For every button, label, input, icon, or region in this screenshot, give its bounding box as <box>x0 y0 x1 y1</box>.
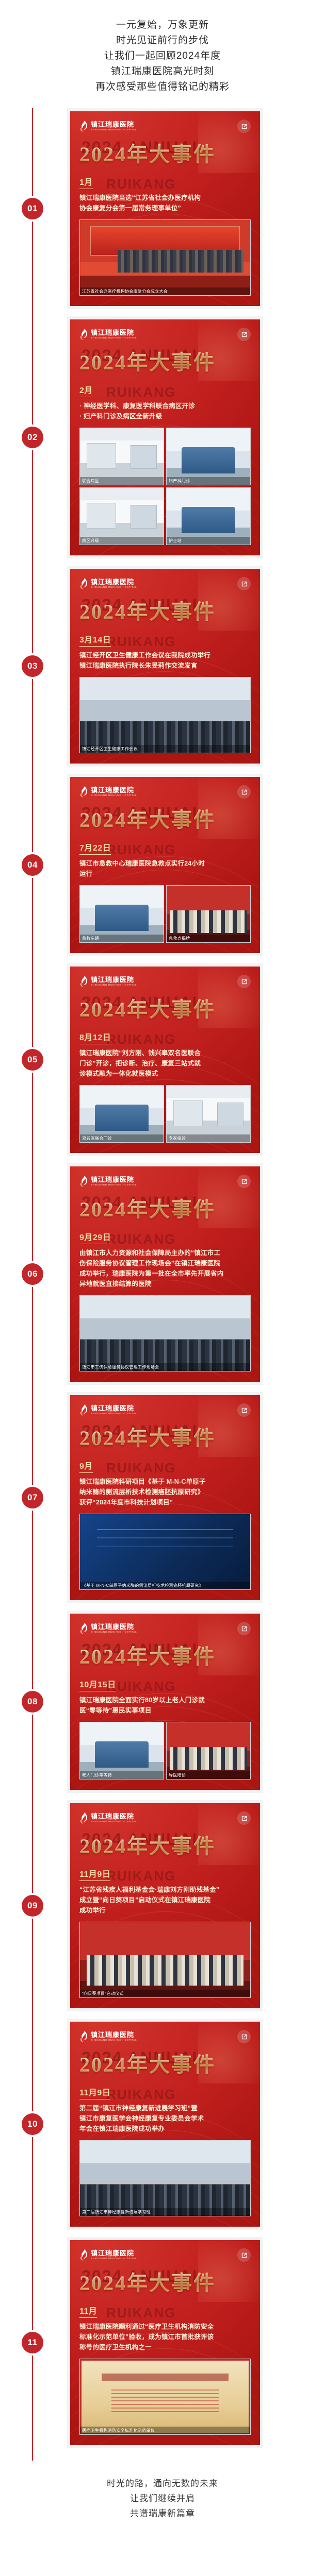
event-description-line: 镇江瑞康医院执行院长朱旻莉作交流发言 <box>79 660 251 671</box>
timeline-node-08[interactable]: 08 <box>22 1691 43 1713</box>
flame-logo-icon <box>79 121 88 132</box>
fund-launch-ceremony-photo[interactable]: “向日葵项目”启动仪式 <box>79 1922 251 1998</box>
award-ceremony-photo[interactable]: 江苏省社会办医疗机构协会康复分会成立大会 <box>79 219 251 296</box>
doctor-patient-photo[interactable]: 专家接诊 <box>166 1085 251 1143</box>
timeline-item[interactable]: 05镇江瑞康医院ZHENJIANG RUIKANG HOSPITAL2024 A… <box>0 963 325 1156</box>
poster-card[interactable]: 镇江瑞康医院ZHENJIANG RUIKANG HOSPITAL2024 ANN… <box>67 1611 263 1793</box>
timeline-node-07[interactable]: 07 <box>22 1487 43 1509</box>
timeline-item[interactable]: 06镇江瑞康医院ZHENJIANG RUIKANG HOSPITAL2024 A… <box>0 1163 325 1385</box>
poster-headline-area: 2024 ANNUAL2024年大事件 <box>79 349 251 376</box>
share-arrow-icon[interactable] <box>237 120 251 133</box>
hospital-logo: 镇江瑞康医院ZHENJIANG RUIKANG HOSPITAL <box>79 1176 139 1187</box>
photo-caption: 医疗卫生机构消防安全标准化示范单位 <box>80 2427 250 2434</box>
event-description-line: 由镇江市人力资源和社会保障局主办的“镇江市工 <box>79 1248 251 1258</box>
event-photo-gallery: “向日葵项目”启动仪式 <box>79 1922 251 1998</box>
ambulance-photo[interactable]: 急救车辆 <box>79 885 164 943</box>
event-month-label: 10月15日 <box>79 1677 116 1691</box>
logo-name-cn: 镇江瑞康医院 <box>91 787 139 793</box>
event-description-line: 诊模式融为一体化就医模式 <box>79 1069 251 1079</box>
ghost-ruikang-watermark: RUIKANG <box>106 1231 176 1247</box>
timeline-node-04[interactable]: 04 <box>22 854 43 876</box>
poster-body: 镇江瑞康医院ZHENJIANG RUIKANG HOSPITAL2024 ANN… <box>70 319 260 555</box>
event-description: 镇江瑞康医院“刘方刚、钱兴皋双名医联合门诊”开诊，把诊断、治疗、康复三站式就诊模… <box>79 1048 251 1079</box>
photo-scene <box>80 1514 250 1589</box>
photo-caption: 第二届镇江市神经康复新进展学习班 <box>80 2208 250 2216</box>
academic-conference-photo[interactable]: 第二届镇江市神经康复新进展学习班 <box>79 2140 251 2216</box>
event-month-label: 3月14日 <box>79 633 111 647</box>
onsite-meeting-photo[interactable]: 镇江市工伤保险服务协议管理工作现场会 <box>79 1295 251 1371</box>
photo-caption: 急救点揭牌 <box>167 935 250 942</box>
timeline-node-06[interactable]: 06 <box>22 1263 43 1285</box>
flame-logo-icon <box>79 1623 88 1634</box>
footer-line: 时光的路，通向无数的未来 <box>0 2476 325 2491</box>
timeline-item[interactable]: 03镇江瑞康医院ZHENJIANG RUIKANG HOSPITAL2024 A… <box>0 566 325 767</box>
event-description-line: “江苏省残疾人福利基金会·瑞康刘方刚助残基金” <box>79 1885 251 1895</box>
event-description: 镇江瑞康医院科研项目《基于 M-N-C单原子纳米酶的侧流层析技术检测癌胚抗原研究… <box>79 1477 251 1507</box>
photo-caption: 镇江经开区卫生健康工作会议 <box>80 745 250 753</box>
share-arrow-icon[interactable] <box>237 328 251 341</box>
event-description-line: 镇江经开区卫生健康工作会议在我院成功举行 <box>79 650 251 660</box>
logo-name-en: ZHENJIANG RUIKANG HOSPITAL <box>91 2039 137 2042</box>
ghost-ruikang-watermark: RUIKANG <box>106 634 176 650</box>
footer-block: 时光的路，通向无数的未来 让我们继续并肩 共谱瑞康新篇章 <box>0 2461 325 2541</box>
event-photo-gallery: 医疗卫生机构消防安全标准化示范单位 <box>79 2359 251 2435</box>
event-description-line: 镇江瑞康医院顺利通过“医疗卫生机构消防安全 <box>79 2321 251 2332</box>
hospital-logo: 镇江瑞康医院ZHENJIANG RUIKANG HOSPITAL <box>79 786 139 798</box>
logo-name-en: ZHENJIANG RUIKANG HOSPITAL <box>91 984 137 987</box>
timeline-node-11[interactable]: 11 <box>22 2332 43 2353</box>
ghost-ruikang-watermark: RUIKANG <box>106 1679 176 1694</box>
hospital-logo: 镇江瑞康医院ZHENJIANG RUIKANG HOSPITAL <box>79 329 139 340</box>
poster-headline: 2024年大事件 <box>79 807 251 834</box>
flame-logo-icon <box>79 976 88 987</box>
photo-scene <box>80 1086 164 1142</box>
poster-body: 镇江瑞康医院ZHENJIANG RUIKANG HOSPITAL2024 ANN… <box>70 111 260 306</box>
hospital-logo: 镇江瑞康医院ZHENJIANG RUIKANG HOSPITAL <box>79 976 139 987</box>
poster-card[interactable]: 镇江瑞康医院ZHENJIANG RUIKANG HOSPITAL2024 ANN… <box>67 1800 263 2011</box>
photo-caption: 急救车辆 <box>80 935 164 942</box>
timeline-item[interactable]: 10镇江瑞康医院ZHENJIANG RUIKANG HOSPITAL2024 A… <box>0 2019 325 2230</box>
poster-body: 镇江瑞康医院ZHENJIANG RUIKANG HOSPITAL2024 ANN… <box>70 2240 260 2445</box>
event-description-line: 镇江市急救中心瑞康医院急救点实行24小时 <box>79 858 251 869</box>
intro-block: 一元复始，万象更新 时光见证前行的步伐 让我们一起回顾2024年度 镇江瑞康医院… <box>0 0 325 108</box>
flame-logo-icon <box>79 1176 88 1187</box>
flame-logo-icon <box>79 786 88 798</box>
logo-name-en: ZHENJIANG RUIKANG HOSPITAL <box>91 586 137 589</box>
event-description-line: 镇江瑞康医院全面实行80岁以上老人门诊就 <box>79 1695 251 1705</box>
photo-scene <box>80 886 164 942</box>
ghost-ruikang-watermark: RUIKANG <box>106 2305 176 2321</box>
event-description: 镇江瑞康医院顺利通过“医疗卫生机构消防安全标准化示范单位”验收，成为镇江市首批获… <box>79 2321 251 2352</box>
poster-header: 镇江瑞康医院ZHENJIANG RUIKANG HOSPITAL <box>79 328 251 341</box>
poster-card[interactable]: 镇江瑞康医院ZHENJIANG RUIKANG HOSPITAL2024 ANN… <box>67 1163 263 1385</box>
photo-scene <box>80 677 250 753</box>
share-arrow-icon[interactable] <box>237 1622 251 1635</box>
event-description-line: 异地就医直接结算的医院 <box>79 1279 251 1289</box>
event-description: · 神经医学科、康复医学科联合病区开诊· 妇产科门诊及病区全新升级 <box>79 401 251 421</box>
ghost-ruikang-watermark: RUIKANG <box>106 1868 176 1884</box>
event-description-line: 镇江瑞康医院科研项目《基于 M-N-C单原子 <box>79 1477 251 1487</box>
poster-card[interactable]: 镇江瑞康医院ZHENJIANG RUIKANG HOSPITAL2024 ANN… <box>67 2237 263 2448</box>
photo-caption: 江苏省社会办医疗机构协会康复分会成立大会 <box>80 287 250 295</box>
poster-headline-area: 2024 ANNUAL2024年大事件 <box>79 2052 251 2078</box>
timeline-item[interactable]: 02镇江瑞康医院ZHENJIANG RUIKANG HOSPITAL2024 A… <box>0 316 325 558</box>
photo-caption: “向日葵项目”启动仪式 <box>80 1990 250 1997</box>
event-photo-gallery: 急救车辆急救点揭牌 <box>79 885 251 943</box>
poster-content: RUIKANG7月22日镇江市急救中心瑞康医院急救点实行24小时运行 <box>79 841 251 879</box>
poster-content: RUIKANG2月· 神经医学科、康复医学科联合病区开诊· 妇产科门诊及病区全新… <box>79 383 251 421</box>
photo-scene <box>167 886 250 942</box>
share-arrow-icon[interactable] <box>237 1811 251 1825</box>
logo-name-en: ZHENJIANG RUIKANG HOSPITAL <box>91 129 137 131</box>
intro-line: 一元复始，万象更新 <box>0 18 325 33</box>
poster-headline-area: 2024 ANNUAL2024年大事件 <box>79 807 251 834</box>
poster-headline: 2024年大事件 <box>79 996 251 1023</box>
poster-header: 镇江瑞康医院ZHENJIANG RUIKANG HOSPITAL <box>79 785 251 799</box>
hospital-logo: 镇江瑞康医院ZHENJIANG RUIKANG HOSPITAL <box>79 121 139 132</box>
event-photo-gallery: 镇江市工伤保险服务协议管理工作现场会 <box>79 1295 251 1371</box>
photo-caption: 导医陪诊 <box>167 1771 250 1779</box>
event-description-line: 成功举行，瑞康医院为第一批在全市率先开展省内 <box>79 1268 251 1279</box>
poster-card[interactable]: 镇江瑞康医院ZHENJIANG RUIKANG HOSPITAL2024 ANN… <box>67 316 263 558</box>
poster-headline-area: 2024 ANNUAL2024年大事件 <box>79 1643 251 1670</box>
photo-scene <box>167 488 250 545</box>
flame-logo-icon <box>79 2249 88 2261</box>
intro-line: 时光见证前行的步伐 <box>0 33 325 48</box>
photo-scene <box>80 2141 250 2216</box>
event-description-line: 年会在镇江瑞康医院成功举办 <box>79 2124 251 2134</box>
poster-headline-area: 2024 ANNUAL2024年大事件 <box>79 996 251 1023</box>
photo-scene <box>80 1722 164 1779</box>
ward-bed-photo[interactable]: 病区升级 <box>79 487 164 545</box>
timeline-node-05[interactable]: 05 <box>22 1049 43 1071</box>
poster-card[interactable]: 镇江瑞康医院ZHENJIANG RUIKANG HOSPITAL2024 ANN… <box>67 566 263 767</box>
event-description-line: · 神经医学科、康复医学科联合病区开诊 <box>79 401 251 411</box>
poster-content: RUIKANG11月9日“江苏省残疾人福利基金会·瑞康刘方刚助残基金”成立暨“向… <box>79 1867 251 1916</box>
photo-caption: 护士站 <box>167 537 250 545</box>
poster-header: 镇江瑞康医院ZHENJIANG RUIKANG HOSPITAL <box>79 577 251 590</box>
event-description-line: 协会康复分会第一届常务理事单位” <box>79 203 251 213</box>
research-project-banner-photo[interactable]: 《基于 M-N-C单原子纳米酶的侧流层析技术检测癌胚抗原研究》 <box>79 1514 251 1590</box>
clinic-room-photo[interactable]: 妇产科门诊 <box>166 428 251 485</box>
ghost-ruikang-watermark: RUIKANG <box>106 384 176 400</box>
logo-name-cn: 镇江瑞康医院 <box>91 976 139 983</box>
poster-header: 镇江瑞康医院ZHENJIANG RUIKANG HOSPITAL <box>79 2248 251 2262</box>
joint-clinic-consult-photo[interactable]: 双名医联合门诊 <box>79 1085 164 1143</box>
timeline-item[interactable]: 08镇江瑞康医院ZHENJIANG RUIKANG HOSPITAL2024 A… <box>0 1611 325 1793</box>
poster-headline-area: 2024 ANNUAL2024年大事件 <box>79 2270 251 2297</box>
hospital-logo: 镇江瑞康医院ZHENJIANG RUIKANG HOSPITAL <box>79 578 139 589</box>
poster-body: 镇江瑞康医院ZHENJIANG RUIKANG HOSPITAL2024 ANN… <box>70 569 260 764</box>
event-photo-gallery: 《基于 M-N-C单原子纳米酶的侧流层析技术检测癌胚抗原研究》 <box>79 1514 251 1590</box>
event-description-line: 成功举行 <box>79 1905 251 1916</box>
event-photo-gallery: 第二届镇江市神经康复新进展学习班 <box>79 2140 251 2216</box>
timeline-item[interactable]: 09镇江瑞康医院ZHENJIANG RUIKANG HOSPITAL2024 A… <box>0 1800 325 2011</box>
poster-headline: 2024年大事件 <box>79 1425 251 1452</box>
event-description-line: 镇江瑞康医院“刘方刚、钱兴皋双名医联合 <box>79 1048 251 1058</box>
timeline-item[interactable]: 07镇江瑞康医院ZHENJIANG RUIKANG HOSPITAL2024 A… <box>0 1392 325 1603</box>
photo-scene <box>80 1296 250 1371</box>
logo-name-cn: 镇江瑞康医院 <box>91 1176 139 1183</box>
photo-caption: 双名医联合门诊 <box>80 1134 164 1142</box>
timeline-node-02[interactable]: 02 <box>22 427 43 448</box>
event-description: 第二届“镇江市神经康复新进展学习班”暨镇江市康复医学会神经康复专业委员会学术年会… <box>79 2103 251 2134</box>
poster-header: 镇江瑞康医院ZHENJIANG RUIKANG HOSPITAL <box>79 1175 251 1188</box>
share-arrow-icon[interactable] <box>237 975 251 988</box>
poster-headline-area: 2024 ANNUAL2024年大事件 <box>79 599 251 625</box>
event-description: “江苏省残疾人福利基金会·瑞康刘方刚助残基金”成立暨“向日葵项目”启动仪式在镇江… <box>79 1885 251 1916</box>
timeline: 01镇江瑞康医院ZHENJIANG RUIKANG HOSPITAL2024 A… <box>0 108 325 2461</box>
event-photo-gallery: 镇江经开区卫生健康工作会议 <box>79 677 251 753</box>
flame-logo-icon <box>79 1812 88 1824</box>
photo-scene <box>80 1922 250 1997</box>
timeline-item[interactable]: 01镇江瑞康医院ZHENJIANG RUIKANG HOSPITAL2024 A… <box>0 108 325 309</box>
timeline-node-10[interactable]: 10 <box>22 2113 43 2135</box>
event-description: 镇江市急救中心瑞康医院急救点实行24小时运行 <box>79 858 251 879</box>
event-description-line: 镇江瑞康医院当选“江苏省社会办医疗机构 <box>79 193 251 203</box>
hospital-logo: 镇江瑞康医院ZHENJIANG RUIKANG HOSPITAL <box>79 1404 139 1416</box>
poster-card[interactable]: 镇江瑞康医院ZHENJIANG RUIKANG HOSPITAL2024 ANN… <box>67 108 263 309</box>
logo-name-en: ZHENJIANG RUIKANG HOSPITAL <box>91 2258 137 2260</box>
poster-headline: 2024年大事件 <box>79 141 251 168</box>
logo-name-en: ZHENJIANG RUIKANG HOSPITAL <box>91 794 137 797</box>
event-month-label: 11月9日 <box>79 2086 110 2099</box>
logo-name-cn: 镇江瑞康医院 <box>91 579 139 585</box>
timeline-node-09[interactable]: 09 <box>22 1895 43 1917</box>
event-description-line: 标准化示范单位”验收，成为镇江市首批获评该 <box>79 2332 251 2342</box>
poster-card[interactable]: 镇江瑞康医院ZHENJIANG RUIKANG HOSPITAL2024 ANN… <box>67 2019 263 2230</box>
event-description: 镇江瑞康医院全面实行80岁以上老人门诊就医“零等待"惠民实事项目 <box>79 1695 251 1716</box>
poster-body: 镇江瑞康医院ZHENJIANG RUIKANG HOSPITAL2024 ANN… <box>70 1614 260 1790</box>
ghost-ruikang-watermark: RUIKANG <box>106 842 176 858</box>
poster-headline: 2024年大事件 <box>79 2270 251 2297</box>
logo-name-en: ZHENJIANG RUIKANG HOSPITAL <box>91 1821 137 1823</box>
poster-content: RUIKANG9月29日由镇江市人力资源和社会保障局主办的“镇江市工伤保险服务协… <box>79 1230 251 1289</box>
fire-safety-certificate-photo[interactable]: 医疗卫生机构消防安全标准化示范单位 <box>79 2359 251 2435</box>
intro-line: 镇江瑞康医院高光时刻 <box>0 64 325 79</box>
event-description-line: 镇江市康复医学会神经康复专业委员会学术 <box>79 2113 251 2124</box>
poster-content: RUIKANG8月12日镇江瑞康医院“刘方刚、钱兴皋双名医联合门诊”开诊，把诊断… <box>79 1030 251 1079</box>
elderly-service-photo[interactable]: 老人门诊零等待 <box>79 1722 164 1780</box>
poster-body: 镇江瑞康医院ZHENJIANG RUIKANG HOSPITAL2024 ANN… <box>70 777 260 953</box>
hospital-logo: 镇江瑞康医院ZHENJIANG RUIKANG HOSPITAL <box>79 2249 139 2261</box>
event-month-label: 1月 <box>79 175 93 189</box>
photo-scene <box>167 428 250 485</box>
ghost-ruikang-watermark: RUIKANG <box>106 176 176 192</box>
flame-logo-icon <box>79 2031 88 2042</box>
event-description-line: 称号的医疗卫生机构之一 <box>79 2342 251 2352</box>
poster-content: RUIKANG3月14日镇江经开区卫生健康工作会议在我院成功举行镇江瑞康医院执行… <box>79 633 251 671</box>
event-month-label: 2月 <box>79 383 93 397</box>
photo-scene <box>167 1086 250 1142</box>
event-description-line: 第二届“镇江市神经康复新进展学习班”暨 <box>79 2103 251 2113</box>
event-description-line: 医“零等待"惠民实事项目 <box>79 1705 251 1716</box>
logo-name-cn: 镇江瑞康医院 <box>91 1623 139 1630</box>
event-description: 镇江瑞康医院当选“江苏省社会办医疗机构协会康复分会第一届常务理事单位” <box>79 193 251 213</box>
poster-content: RUIKANG9月镇江瑞康医院科研项目《基于 M-N-C单原子纳米酶的侧流层析技… <box>79 1459 251 1507</box>
poster-content: RUIKANG11月镇江瑞康医院顺利通过“医疗卫生机构消防安全标准化示范单位”验… <box>79 2304 251 2352</box>
ghost-ruikang-watermark: RUIKANG <box>106 2087 176 2103</box>
logo-name-cn: 镇江瑞康医院 <box>91 329 139 336</box>
event-photo-gallery: 江苏省社会办医疗机构协会康复分会成立大会 <box>79 219 251 296</box>
event-photo-gallery: 联合病区妇产科门诊病区升级护士站 <box>79 428 251 545</box>
nurse-station-photo[interactable]: 护士站 <box>166 487 251 545</box>
event-month-label: 9月 <box>79 1459 93 1473</box>
poster-header: 镇江瑞康医院ZHENJIANG RUIKANG HOSPITAL <box>79 2030 251 2043</box>
event-description: 由镇江市人力资源和社会保障局主办的“镇江市工伤保险服务协议管理工作现场会”在镇江… <box>79 1248 251 1289</box>
poster-header: 镇江瑞康医院ZHENJIANG RUIKANG HOSPITAL <box>79 120 251 133</box>
timeline-node-01[interactable]: 01 <box>22 198 43 219</box>
share-arrow-icon[interactable] <box>237 785 251 799</box>
intro-line: 让我们一起回顾2024年度 <box>0 48 325 64</box>
poster-headline-area: 2024 ANNUAL2024年大事件 <box>79 1196 251 1223</box>
poster-card[interactable]: 镇江瑞康医院ZHENJIANG RUIKANG HOSPITAL2024 ANN… <box>67 963 263 1156</box>
poster-headline: 2024年大事件 <box>79 1196 251 1223</box>
poster-content: RUIKANG11月9日第二届“镇江市神经康复新进展学习班”暨镇江市康复医学会神… <box>79 2086 251 2134</box>
logo-name-cn: 镇江瑞康医院 <box>91 121 139 128</box>
guide-service-photo[interactable]: 导医陪诊 <box>166 1722 251 1780</box>
event-description-line: 伤保险服务协议管理工作现场会”在镇江瑞康医院 <box>79 1258 251 1268</box>
poster-headline: 2024年大事件 <box>79 349 251 376</box>
ward-corridor-photo[interactable]: 联合病区 <box>79 428 164 485</box>
photo-scene <box>80 220 250 295</box>
share-arrow-icon[interactable] <box>237 2030 251 2043</box>
photo-caption: 病区升级 <box>80 537 164 545</box>
photo-scene <box>80 2359 250 2434</box>
logo-name-en: ZHENJIANG RUIKANG HOSPITAL <box>91 1184 137 1187</box>
timeline-item[interactable]: 04镇江瑞康医院ZHENJIANG RUIKANG HOSPITAL2024 A… <box>0 774 325 956</box>
footer-line: 让我们继续并肩 <box>0 2491 325 2506</box>
poster-content: RUIKANG10月15日镇江瑞康医院全面实行80岁以上老人门诊就医“零等待"惠… <box>79 1677 251 1716</box>
event-month-label: 7月22日 <box>79 841 111 855</box>
poster-card[interactable]: 镇江瑞康医院ZHENJIANG RUIKANG HOSPITAL2024 ANN… <box>67 1392 263 1603</box>
hospital-logo: 镇江瑞康医院ZHENJIANG RUIKANG HOSPITAL <box>79 1623 139 1634</box>
poster-headline: 2024年大事件 <box>79 2052 251 2078</box>
poster-body: 镇江瑞康医院ZHENJIANG RUIKANG HOSPITAL2024 ANN… <box>70 1166 260 1382</box>
poster-body: 镇江瑞康医院ZHENJIANG RUIKANG HOSPITAL2024 ANN… <box>70 1395 260 1600</box>
poster-card[interactable]: 镇江瑞康医院ZHENJIANG RUIKANG HOSPITAL2024 ANN… <box>67 774 263 956</box>
poster-header: 镇江瑞康医院ZHENJIANG RUIKANG HOSPITAL <box>79 975 251 988</box>
photo-caption: 专家接诊 <box>167 1134 250 1142</box>
poster-content: RUIKANG1月镇江瑞康医院当选“江苏省社会办医疗机构协会康复分会第一届常务理… <box>79 175 251 213</box>
poster-body: 镇江瑞康医院ZHENJIANG RUIKANG HOSPITAL2024 ANN… <box>70 1803 260 2008</box>
poster-header: 镇江瑞康医院ZHENJIANG RUIKANG HOSPITAL <box>79 1403 251 1417</box>
logo-name-cn: 镇江瑞康医院 <box>91 1405 139 1412</box>
poster-header: 镇江瑞康医院ZHENJIANG RUIKANG HOSPITAL <box>79 1622 251 1635</box>
logo-name-cn: 镇江瑞康医院 <box>91 2250 139 2257</box>
poster-headline: 2024年大事件 <box>79 599 251 625</box>
event-month-label: 8月12日 <box>79 1030 111 1044</box>
poster-body: 镇江瑞康医院ZHENJIANG RUIKANG HOSPITAL2024 ANN… <box>70 967 260 1153</box>
photo-scene <box>80 428 164 485</box>
share-arrow-icon[interactable] <box>237 577 251 590</box>
timeline-node-03[interactable]: 03 <box>22 655 43 677</box>
logo-name-cn: 镇江瑞康医院 <box>91 2031 139 2038</box>
ghost-ruikang-watermark: RUIKANG <box>106 1031 176 1047</box>
poster-body: 镇江瑞康医院ZHENJIANG RUIKANG HOSPITAL2024 ANN… <box>70 2022 260 2227</box>
share-arrow-icon[interactable] <box>237 1403 251 1417</box>
event-month-label: 9月29日 <box>79 1230 111 1244</box>
photo-scene <box>167 1722 250 1779</box>
hospital-logo: 镇江瑞康医院ZHENJIANG RUIKANG HOSPITAL <box>79 1812 139 1824</box>
event-photo-gallery: 双名医联合门诊专家接诊 <box>79 1085 251 1143</box>
event-description-line: 运行 <box>79 869 251 879</box>
poster-headline-area: 2024 ANNUAL2024年大事件 <box>79 1425 251 1452</box>
share-arrow-icon[interactable] <box>237 1175 251 1188</box>
photo-caption: 联合病区 <box>80 477 164 485</box>
logo-name-en: ZHENJIANG RUIKANG HOSPITAL <box>91 1631 137 1634</box>
event-description-line: 成立暨“向日葵项目”启动仪式在镇江瑞康医院 <box>79 1895 251 1905</box>
event-description-line: · 妇产科门诊及病区全新升级 <box>79 411 251 421</box>
event-description: 镇江经开区卫生健康工作会议在我院成功举行镇江瑞康医院执行院长朱旻莉作交流发言 <box>79 650 251 671</box>
event-month-label: 11月9日 <box>79 1867 110 1881</box>
photo-scene <box>80 488 164 545</box>
poster-headline-area: 2024 ANNUAL2024年大事件 <box>79 1833 251 1860</box>
emergency-team-photo[interactable]: 急救点揭牌 <box>166 885 251 943</box>
flame-logo-icon <box>79 578 88 589</box>
flame-logo-icon <box>79 1404 88 1416</box>
flame-logo-icon <box>79 329 88 340</box>
logo-name-en: ZHENJIANG RUIKANG HOSPITAL <box>91 1413 137 1415</box>
poster-headline: 2024年大事件 <box>79 1833 251 1860</box>
event-description-line: 纳米酶的侧流层析技术检测癌胚抗原研究》 <box>79 1487 251 1497</box>
conference-hall-photo[interactable]: 镇江经开区卫生健康工作会议 <box>79 677 251 753</box>
event-description-line: 获评“2024年度市科技计划项目” <box>79 1497 251 1507</box>
logo-name-en: ZHENJIANG RUIKANG HOSPITAL <box>91 337 137 340</box>
photo-caption: 镇江市工伤保险服务协议管理工作现场会 <box>80 1363 250 1371</box>
photo-caption: 妇产科门诊 <box>167 477 250 485</box>
intro-line: 再次感受那些值得铭记的精彩 <box>0 79 325 95</box>
photo-caption: 老人门诊零等待 <box>80 1771 164 1779</box>
footer-line: 共谱瑞康新篇章 <box>0 2506 325 2521</box>
poster-header: 镇江瑞康医院ZHENJIANG RUIKANG HOSPITAL <box>79 1811 251 1825</box>
event-month-label: 11月 <box>79 2304 97 2318</box>
poster-headline-area: 2024 ANNUAL2024年大事件 <box>79 141 251 168</box>
photo-caption: 《基于 M-N-C单原子纳米酶的侧流层析技术检测癌胚抗原研究》 <box>80 1582 250 1589</box>
timeline-item[interactable]: 11镇江瑞康医院ZHENJIANG RUIKANG HOSPITAL2024 A… <box>0 2237 325 2448</box>
logo-name-cn: 镇江瑞康医院 <box>91 1813 139 1820</box>
event-photo-gallery: 老人门诊零等待导医陪诊 <box>79 1722 251 1780</box>
event-description-line: 门诊”开诊，把诊断、治疗、康复三站式就 <box>79 1058 251 1069</box>
hospital-logo: 镇江瑞康医院ZHENJIANG RUIKANG HOSPITAL <box>79 2031 139 2042</box>
share-arrow-icon[interactable] <box>237 2248 251 2262</box>
ghost-ruikang-watermark: RUIKANG <box>106 1460 176 1476</box>
poster-headline: 2024年大事件 <box>79 1643 251 1670</box>
